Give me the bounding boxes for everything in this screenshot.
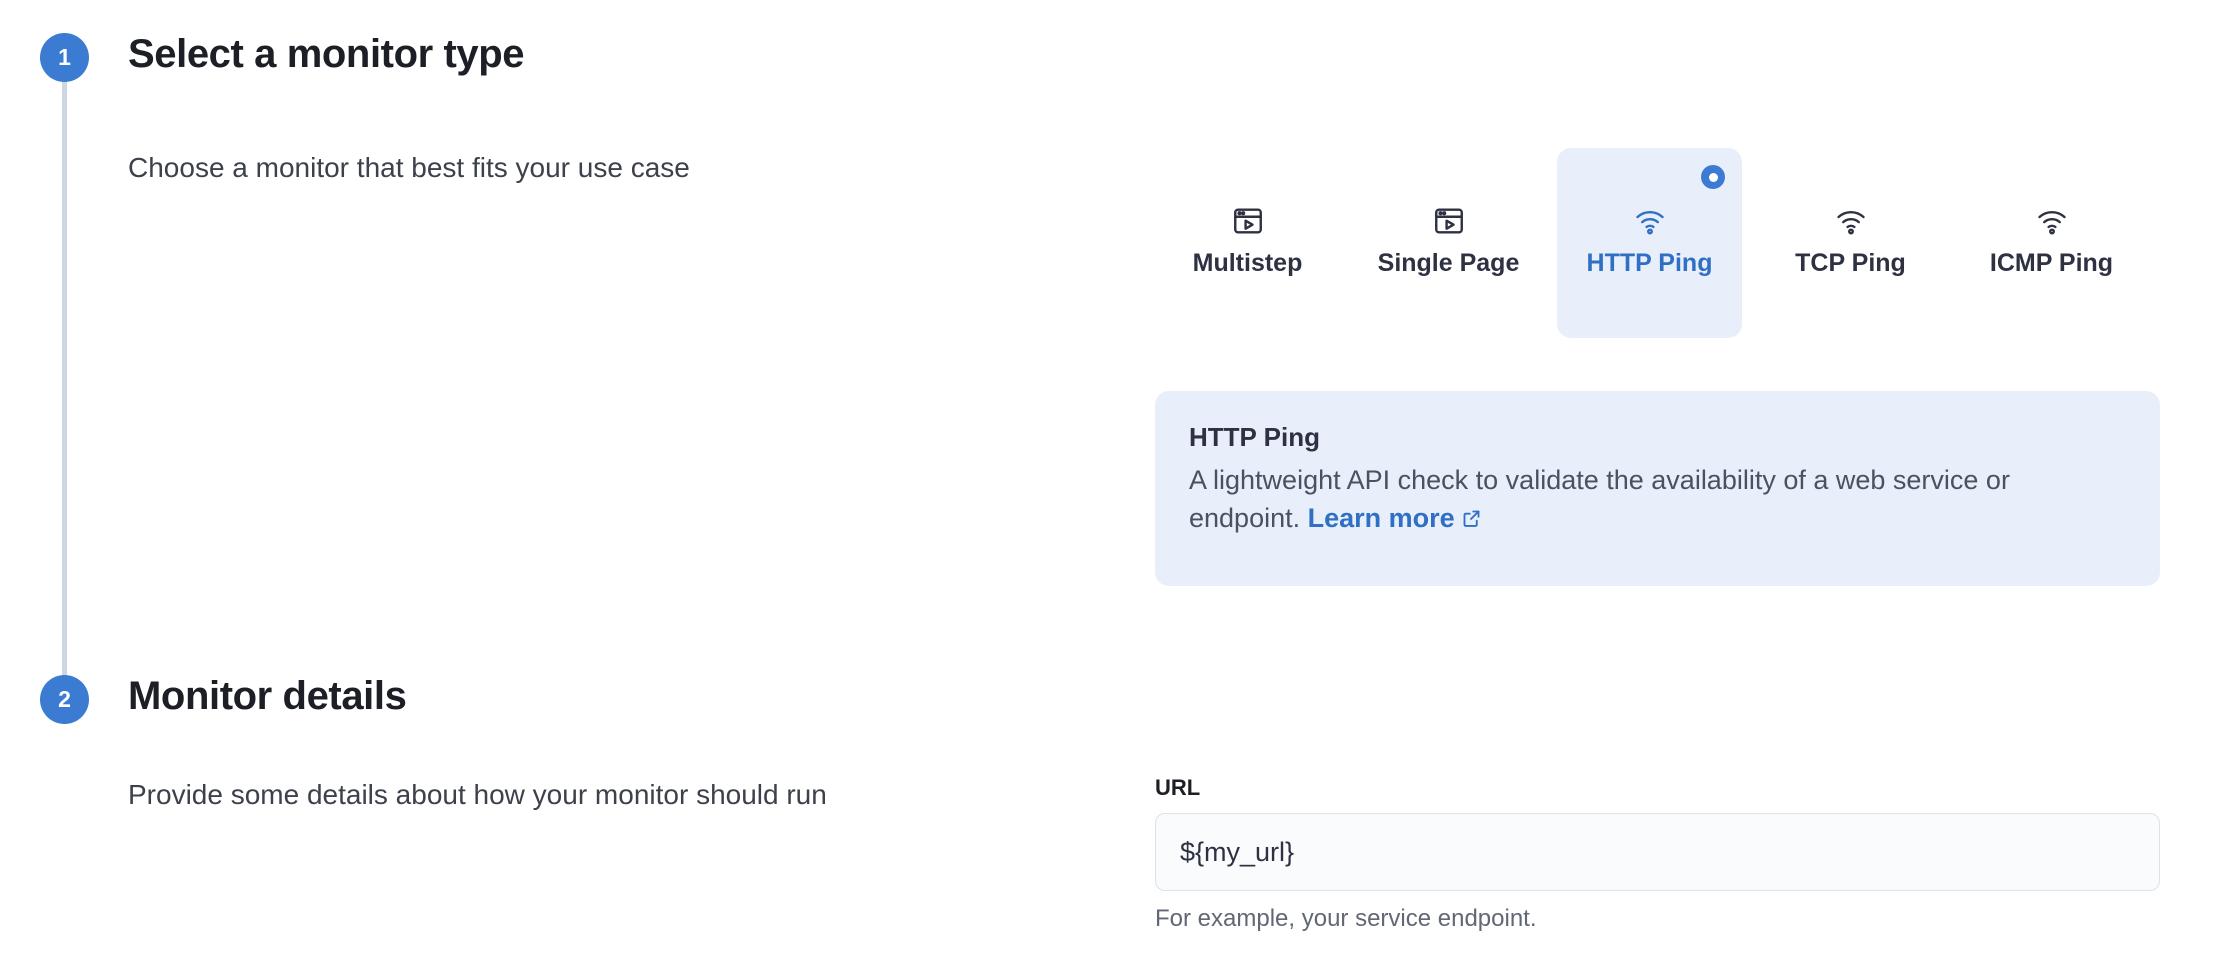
wifi-icon [1633,203,1667,239]
url-help-text: For example, your service endpoint. [1155,905,2160,933]
step-badge-2: 2 [40,675,89,724]
step-badge-1: 1 [40,33,89,82]
wifi-icon [2035,203,2069,239]
browser-play-icon [1231,203,1265,239]
step-number-2: 2 [58,688,71,711]
monitor-type-info-panel: HTTP Ping A lightweight API check to val… [1155,391,2160,586]
wifi-icon [1834,203,1868,239]
info-panel-title: HTTP Ping [1189,422,2126,453]
info-panel-description: A lightweight API check to validate the … [1189,461,2124,540]
monitor-type-label: Single Page [1378,249,1520,278]
url-field-block: URL For example, your service endpoint. [1155,775,2160,933]
monitor-type-label: Multistep [1193,249,1303,278]
monitor-type-card-single-page[interactable]: Single Page [1356,148,1541,338]
monitor-type-card-http-ping[interactable]: HTTP Ping [1557,148,1742,338]
external-link-icon[interactable] [1461,501,1482,539]
monitor-type-card-icmp-ping[interactable]: ICMP Ping [1959,148,2144,338]
monitor-type-label: TCP Ping [1795,249,1906,278]
radio-selected-indicator[interactable] [1701,165,1725,189]
step-1-title: Select a monitor type [128,32,524,77]
step-1-subtitle: Choose a monitor that best fits your use… [128,152,690,184]
url-label: URL [1155,775,2160,801]
stepper-connector-line [62,68,67,688]
monitor-type-selector: Multistep Single Page [1155,148,2160,338]
monitor-type-card-multistep[interactable]: Multistep [1155,148,1340,338]
step-2-subtitle: Provide some details about how your moni… [128,779,827,811]
step-2-title: Monitor details [128,674,406,719]
learn-more-link[interactable]: Learn more [1308,503,1455,533]
monitor-type-label: HTTP Ping [1587,249,1713,278]
monitor-type-label: ICMP Ping [1990,249,2113,278]
browser-play-icon [1432,203,1466,239]
url-input[interactable] [1155,813,2160,891]
monitor-type-card-tcp-ping[interactable]: TCP Ping [1758,148,1943,338]
monitor-creation-form: 1 2 Select a monitor type Choose a monit… [0,0,2218,958]
step-number-1: 1 [58,46,71,69]
